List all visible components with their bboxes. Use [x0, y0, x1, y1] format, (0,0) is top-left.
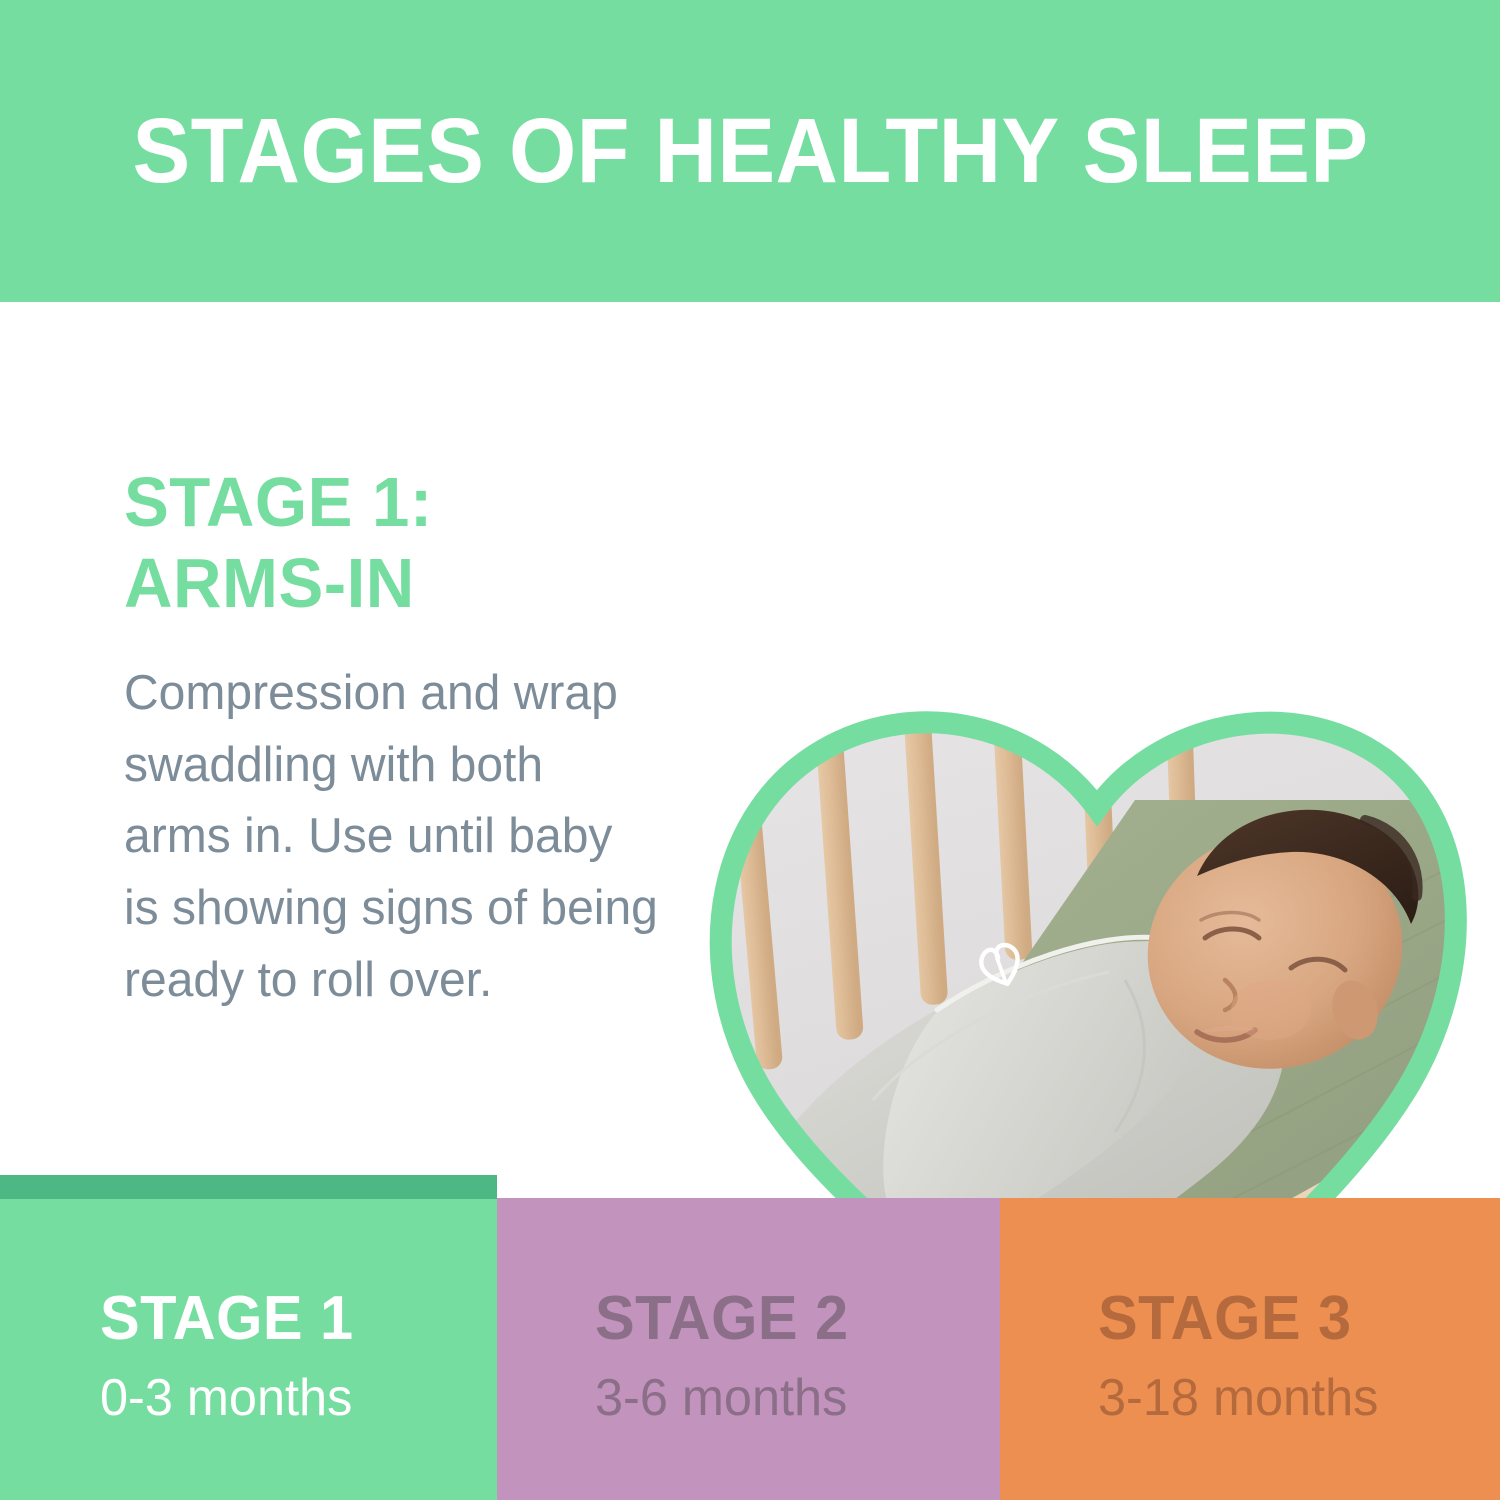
- stage-bar-2-range: 3-6 months: [595, 1372, 851, 1424]
- stage-bars: STAGE 1 0-3 months STAGE 2 3-6 months ST…: [0, 1175, 1500, 1500]
- header-banner: STAGES OF HEALTHY SLEEP: [0, 0, 1500, 302]
- stage-bar-stage-2[interactable]: STAGE 2 3-6 months: [497, 1198, 1000, 1500]
- stage-bar-2-content: STAGE 2 3-6 months: [595, 1288, 859, 1424]
- main-content: STAGE 1: ARMS-IN Compression and wrap sw…: [0, 302, 1500, 1175]
- page-title: STAGES OF HEALTHY SLEEP: [132, 105, 1368, 197]
- stage-bar-3-range: 3-18 months: [1098, 1372, 1378, 1424]
- crib-top-rail: [685, 640, 1210, 698]
- stage-heading: STAGE 1: ARMS-IN: [124, 462, 681, 624]
- stage-bar-stage-3[interactable]: STAGE 3 3-18 months: [1000, 1198, 1500, 1500]
- stage-heading-line-1: STAGE 1:: [124, 462, 681, 543]
- stage-description: Compression and wrap swaddling with both…: [124, 658, 658, 1016]
- stage-bar-1-content: STAGE 1 0-3 months: [100, 1288, 364, 1424]
- stage-bar-2-label: STAGE 2: [595, 1288, 849, 1350]
- stage-heading-line-2: ARMS-IN: [124, 543, 681, 624]
- stage-bar-3-label: STAGE 3: [1098, 1288, 1375, 1350]
- stage-bar-stage-1[interactable]: STAGE 1 0-3 months: [0, 1175, 497, 1500]
- stage-detail-text: STAGE 1: ARMS-IN Compression and wrap sw…: [124, 462, 704, 1016]
- stage-bar-3-content: STAGE 3 3-18 months: [1098, 1288, 1387, 1424]
- stage-bar-1-label: STAGE 1: [100, 1288, 354, 1350]
- stage-bar-1-range: 0-3 months: [100, 1372, 356, 1424]
- infographic-root: STAGES OF HEALTHY SLEEP STAGE 1: ARMS-IN…: [0, 0, 1500, 1500]
